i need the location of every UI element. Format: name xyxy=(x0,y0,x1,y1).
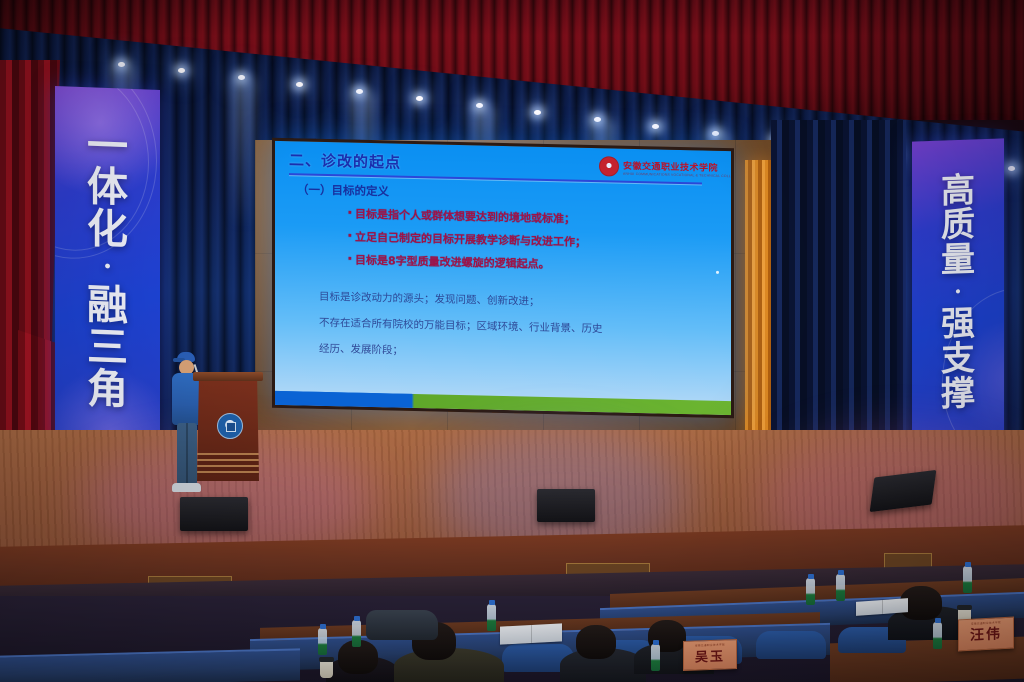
podium-top xyxy=(193,372,263,381)
school-emblem-icon xyxy=(217,413,243,439)
podium-stripes xyxy=(197,453,259,475)
right-banner-char-6: 撑 xyxy=(941,376,975,412)
placard-name-1: 吴玉 xyxy=(695,645,725,665)
slide-highlight-dot xyxy=(716,271,719,274)
institution-seal-icon xyxy=(599,156,619,176)
right-banner-char-5: 支 xyxy=(941,341,975,377)
right-banner-char-4: 强 xyxy=(941,307,975,343)
water-bottle-7 xyxy=(933,622,942,649)
right-banner-text: 高 质 量 · 强 支 撑 xyxy=(912,138,1004,446)
slide-bullet-2: 目标是8字型质量改进螺旋的逻辑起点。 xyxy=(347,251,719,275)
slide-bullet-list: 目标是指个人或群体想要达到的境地或标准； 立足自己制定的目标开展教学诊断与改进工… xyxy=(307,205,719,276)
water-bottle-5 xyxy=(806,578,815,605)
name-placard-wang-wei[interactable]: 安徽交通职业技术学院 汪伟 xyxy=(958,617,1014,652)
podium-body xyxy=(197,381,259,481)
backpack-on-desk xyxy=(366,610,438,640)
slide-bullet-0: 目标是指个人或群体想要达到的境地或标准； xyxy=(347,205,719,229)
right-banner-char-2: 量 xyxy=(941,242,975,278)
water-bottle-8 xyxy=(963,566,972,593)
water-bottle-3 xyxy=(487,604,496,631)
right-banner-char-1: 质 xyxy=(941,208,975,244)
slide-body-line-2: 经历、发展阶段； xyxy=(319,341,719,365)
water-bottle-4 xyxy=(651,644,660,671)
audience-person-3-head xyxy=(576,625,616,659)
left-banner-char-5: 三 xyxy=(87,326,128,369)
placard-name-2: 汪伟 xyxy=(970,623,1002,645)
water-bottle-2 xyxy=(352,620,361,647)
projection-slide: 安徽交通职业技术学院 ANHUI COMMUNICATIONS VOCATION… xyxy=(272,138,734,418)
stage-monitor-left xyxy=(180,497,248,531)
slide-institution-logo: 安徽交通职业技术学院 ANHUI COMMUNICATIONS VOCATION… xyxy=(599,155,725,180)
left-banner-char-4: 融 xyxy=(87,284,128,327)
audience-chair-4 xyxy=(756,631,826,659)
left-led-banner: 一 体 化 · 融 三 角 xyxy=(55,86,160,450)
auditorium-scene: 一 体 化 · 融 三 角 高 质 量 · 强 支 撑 安徽交 xyxy=(0,0,1024,682)
left-banner-char-6: 角 xyxy=(87,368,128,411)
slide-body-line-0: 目标是诊改动力的源头；发现问题、创新改进； xyxy=(319,289,719,313)
name-placard-wu-yu[interactable]: 安徽交通职业技术学院 吴玉 xyxy=(683,639,737,671)
slide-footer-blue xyxy=(275,391,412,408)
open-notebook xyxy=(500,623,562,644)
right-led-banner: 高 质 量 · 强 支 撑 xyxy=(912,138,1004,446)
water-bottle-1 xyxy=(318,628,327,655)
presenter-legs xyxy=(177,423,197,485)
lectern-podium xyxy=(197,372,259,490)
water-bottle-6 xyxy=(836,574,845,601)
slide-subtitle: （一）目标的定义 xyxy=(297,181,719,207)
right-banner-char-0: 高 xyxy=(941,173,975,209)
left-banner-char-2: 化 xyxy=(87,208,128,251)
paper-cup-1 xyxy=(320,660,333,678)
left-banner-text: 一 体 化 · 融 三 角 xyxy=(55,86,160,450)
stage-monitor-center xyxy=(537,489,595,522)
slide-body-line-1: 不存在适合所有院校的万能目标；区域环境、行业背景、历史 xyxy=(319,315,719,339)
slide-bullet-1: 立足自己制定的目标开展教学诊断与改进工作； xyxy=(347,228,719,252)
slide-body-text: 目标是诊改动力的源头；发现问题、创新改进； 不存在适合所有院校的万能目标；区域环… xyxy=(319,289,719,365)
